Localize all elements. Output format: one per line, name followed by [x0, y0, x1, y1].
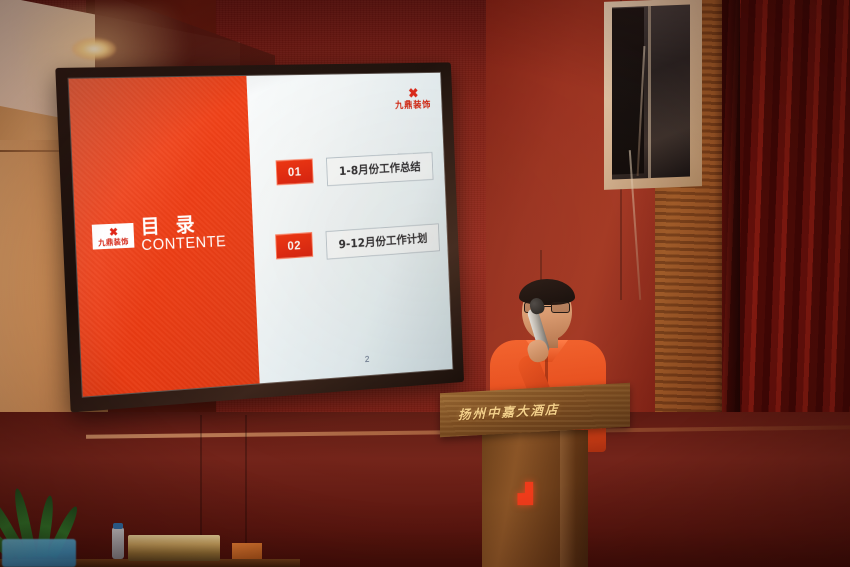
podium: ▟ 扬州中嘉大酒店	[440, 388, 630, 567]
toc-number-badge: 01	[276, 159, 314, 186]
contents-title-en: CONTENTE	[141, 234, 226, 253]
presentation-screen: ✖ 九鼎装饰 目 录 CONTENTE ✖ 九鼎装饰	[55, 62, 464, 412]
contents-logo-chip: ✖ 九鼎装饰	[92, 223, 135, 250]
slide: ✖ 九鼎装饰 目 录 CONTENTE ✖ 九鼎装饰	[69, 73, 453, 397]
water-bottle	[112, 527, 124, 559]
stacked-books	[128, 535, 220, 561]
brand-mark-icon: ✖	[408, 87, 417, 100]
toc-item: 02 9-12月份工作计划	[275, 224, 440, 260]
screen-surface: ✖ 九鼎装饰 目 录 CONTENTE ✖ 九鼎装饰	[69, 73, 453, 397]
desk-object	[232, 543, 262, 559]
bottle-cap	[113, 523, 123, 529]
brand-mark-icon: ✖	[109, 227, 117, 237]
stage-curtain	[722, 0, 850, 441]
ceiling-downlight	[72, 38, 116, 60]
slide-brand-logo: ✖ 九鼎装饰	[394, 86, 431, 111]
photo-scene: ✖ 九鼎装饰 目 录 CONTENTE ✖ 九鼎装饰	[0, 0, 850, 567]
contents-title-group: 目 录 CONTENTE	[140, 213, 226, 253]
toc-item: 01 1-8月份工作总结	[276, 153, 434, 187]
slide-right-panel: ✖ 九鼎装饰 01 1-8月份工作总结 02 9-12月份工作计划 2	[246, 73, 452, 384]
brand-name-label: 九鼎装饰	[395, 101, 432, 111]
podium-emblem-icon: ▟	[518, 484, 544, 506]
blue-container	[2, 539, 76, 567]
glasses-lens-right	[551, 302, 570, 313]
slide-left-red-panel: ✖ 九鼎装饰 目 录 CONTENTE	[69, 76, 260, 397]
toc-number-badge: 02	[275, 232, 313, 259]
curtain-shadow	[714, 0, 740, 441]
booth-window-mullion	[648, 6, 651, 178]
slide-page-number: 2	[365, 354, 370, 365]
contents-title-cn: 目 录	[140, 213, 226, 236]
screen-bezel: ✖ 九鼎装饰 目 录 CONTENTE ✖ 九鼎装饰	[55, 62, 464, 412]
toc-item-label: 1-8月份工作总结	[326, 152, 433, 186]
contents-heading: ✖ 九鼎装饰 目 录 CONTENTE	[75, 213, 227, 257]
toc-item-label: 9-12月份工作计划	[325, 223, 439, 259]
brand-name-label: 九鼎装饰	[98, 238, 129, 247]
podium-highlight	[560, 430, 576, 567]
